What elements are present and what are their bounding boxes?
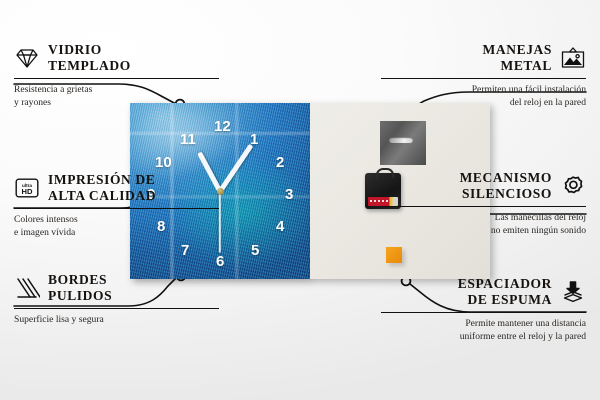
callout-description: Permite mantener una distancia uniforme … [381, 318, 586, 343]
foam-spacer [386, 247, 402, 263]
clock-numeral-7: 7 [181, 243, 189, 258]
callout-title-line1: MECANISMO [460, 170, 552, 186]
clock-numeral-12: 12 [214, 119, 231, 134]
callout-rule [14, 308, 219, 310]
callout-rule [381, 206, 586, 208]
ultra-hd-icon: ultra HD [14, 176, 40, 200]
callout-manejas-metal: MANEJAS METAL Permiten una fácil instala… [381, 42, 586, 110]
svg-text:HD: HD [22, 187, 33, 196]
callout-description: Las manecillas del reloj no emiten ningú… [381, 212, 586, 237]
callout-title-line2: ALTA CALIDAD [48, 188, 156, 204]
callout-impresion-alta-calidad: ultra HD IMPRESIÓN DE ALTA CALIDAD Color… [14, 172, 219, 240]
callout-title-line1: VIDRIO [48, 42, 131, 58]
callout-title-line1: BORDES [48, 272, 112, 288]
clock-numeral-1: 1 [250, 132, 258, 147]
callout-description: Colores intensos e imagen vívida [14, 214, 219, 239]
callout-rule [381, 78, 586, 80]
callout-rule [14, 78, 219, 80]
callout-mecanismo-silencioso: MECANISMO SILENCIOSO Las manecillas del … [381, 170, 586, 238]
metal-hanger-plate [380, 121, 426, 165]
callout-vidrio-templado: VIDRIO TEMPLADO Resistencia a grietas y … [14, 42, 219, 110]
clock-numeral-4: 4 [276, 219, 284, 234]
clock-numeral-11: 11 [180, 132, 196, 147]
clock-numeral-3: 3 [285, 187, 293, 202]
clock-numeral-6: 6 [216, 254, 224, 269]
polished-edges-icon [14, 276, 40, 300]
callout-title-line2: TEMPLADO [48, 58, 131, 74]
diamond-icon [14, 46, 40, 70]
callout-bordes-pulidos: BORDES PULIDOS Superficie lisa y segura [14, 272, 219, 327]
clock-minute-hand [218, 143, 253, 192]
arrow-down-layers-icon [560, 280, 586, 304]
clock-numeral-10: 10 [155, 155, 172, 170]
callout-rule [381, 312, 586, 314]
callout-title-line2: DE ESPUMA [458, 292, 552, 308]
callout-rule [14, 208, 219, 210]
callout-title-line2: METAL [483, 58, 552, 74]
callout-description: Resistencia a grietas y rayones [14, 84, 219, 109]
hanger-slot [389, 137, 413, 143]
callout-title-line1: ESPACIADOR [458, 276, 552, 292]
clock-numeral-5: 5 [251, 243, 259, 258]
callout-title-line2: PULIDOS [48, 288, 112, 304]
clock-numeral-2: 2 [276, 155, 284, 170]
callout-description: Superficie lisa y segura [14, 314, 219, 327]
clock-second-hand [219, 191, 221, 253]
callout-title-line2: SILENCIOSO [460, 186, 552, 202]
callout-espaciador-espuma: ESPACIADOR DE ESPUMA Permite mantener un… [381, 276, 586, 344]
callout-title-line1: MANEJAS [483, 42, 552, 58]
picture-frame-icon [560, 46, 586, 70]
gear-icon [560, 174, 586, 198]
callout-title-line1: IMPRESIÓN DE [48, 172, 156, 188]
infographic-canvas: 12 1 2 3 4 5 6 7 8 9 10 11 [0, 0, 600, 400]
callout-description: Permiten una fácil instalación del reloj… [381, 84, 586, 109]
